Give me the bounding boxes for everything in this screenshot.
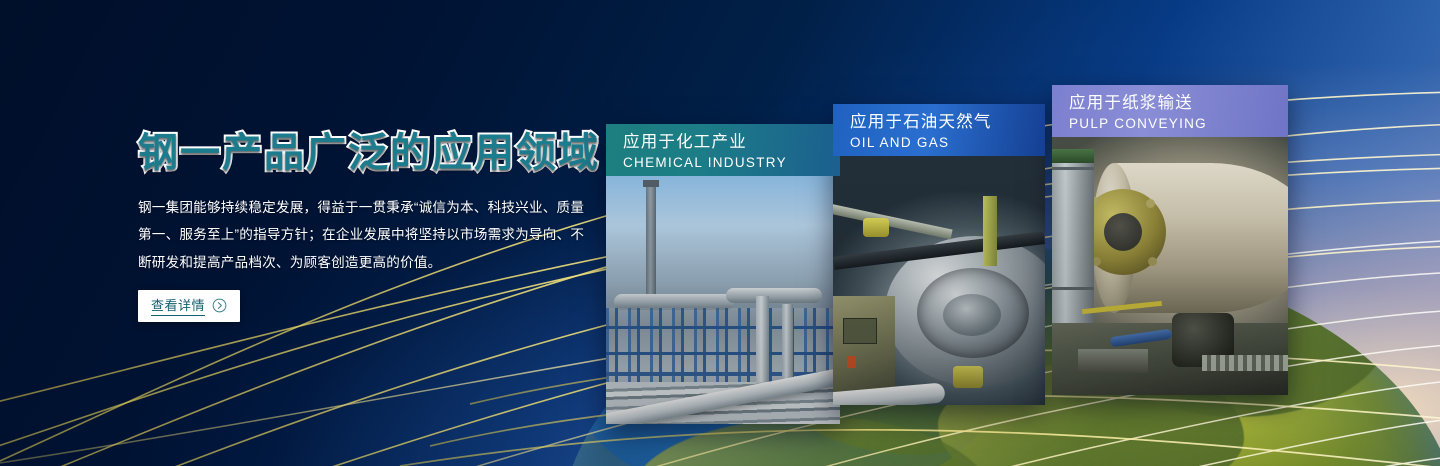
pulp-conveying-roller-photo [1052,137,1288,395]
card-title-en: CHEMICAL INDUSTRY [623,154,840,172]
card-title-cn: 应用于纸浆输送 [1069,92,1288,114]
card-title-cn: 应用于化工产业 [623,131,840,153]
card-header: 应用于化工产业 CHEMICAL INDUSTRY [606,124,840,176]
card-header: 应用于纸浆输送 PULP CONVEYING [1052,85,1288,137]
hero-description: 钢一集团能够持续稳定发展，得益于一贯秉承“诚信为本、科技兴业、质量第一、服务至上… [138,194,586,276]
hero-copy: 钢一产品广泛的应用领域 钢一产品广泛的应用领域 钢一集团能够持续稳定发展，得益于… [138,132,608,322]
page-title-fill: 钢一产品广泛的应用领域 [138,132,600,175]
circle-chevron-right-icon [212,298,227,313]
card-header: 应用于石油天然气 OIL AND GAS [833,104,1045,156]
page-title: 钢一产品广泛的应用领域 钢一产品广泛的应用领域 [138,132,608,176]
application-card-oil-and-gas[interactable]: 应用于石油天然气 OIL AND GAS [833,104,1045,405]
view-details-label: 查看详情 [151,295,205,316]
hero-banner: 钢一产品广泛的应用领域 钢一产品广泛的应用领域 钢一集团能够持续稳定发展，得益于… [0,0,1440,466]
view-details-button[interactable]: 查看详情 [138,290,240,322]
chemical-plant-photo [606,176,840,424]
application-card-pulp-conveying[interactable]: 应用于纸浆输送 PULP CONVEYING [1052,85,1288,395]
card-title-cn: 应用于石油天然气 [850,111,1045,133]
card-title-en: OIL AND GAS [850,134,1045,152]
oil-and-gas-equipment-photo [833,156,1045,405]
application-card-chemical-industry[interactable]: 应用于化工产业 CHEMICAL INDUSTRY [606,124,840,424]
card-title-en: PULP CONVEYING [1069,115,1288,133]
